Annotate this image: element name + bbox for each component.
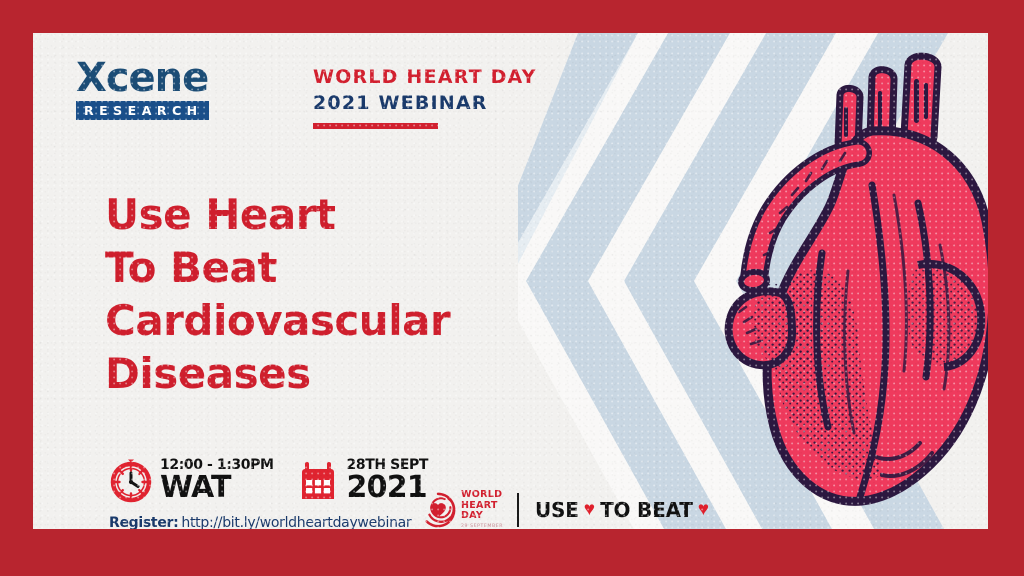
- event-time-block: 12:00 - 1:30PM WAT: [109, 458, 274, 503]
- whd-word-world: WORLD: [461, 490, 503, 501]
- event-date-year: 2021: [347, 473, 428, 503]
- anatomical-heart-illustration: [722, 35, 988, 529]
- lockup-divider: [517, 493, 519, 527]
- headline-line-2: To Beat: [105, 241, 450, 294]
- headline-line-1: Use Heart: [105, 188, 450, 241]
- headline: Use Heart To Beat Cardiovascular Disease…: [105, 188, 450, 400]
- campaign-tagline: USE ♥ TO BEAT ♥: [535, 500, 714, 520]
- heart-glyph-icon: ♥: [584, 500, 595, 519]
- whd-word-day: DAY: [461, 511, 503, 522]
- event-details: 12:00 - 1:30PM WAT: [109, 458, 428, 503]
- event-timezone: WAT: [160, 473, 274, 503]
- event-date-block: 28TH SEPT 2021: [296, 458, 428, 503]
- register-line: Register:http://bit.ly/worldheartdaywebi…: [109, 514, 411, 529]
- calendar-icon: [296, 459, 340, 503]
- eyebrow-underline-rule: [313, 123, 438, 129]
- poster-white-card: Xcene RESEARCH WORLD HEART DAY 2021 WEBI…: [33, 33, 988, 529]
- eyebrow-world-heart-day: WORLD HEART DAY: [313, 65, 537, 89]
- tagline-to-beat: TO BEAT: [600, 500, 693, 520]
- xcene-research-bar: RESEARCH: [76, 101, 209, 120]
- headline-line-3: Cardiovascular: [105, 294, 450, 347]
- clock-icon: [109, 459, 153, 503]
- heart-circle-emblem-icon: [419, 491, 457, 529]
- world-heart-day-poster: Xcene RESEARCH WORLD HEART DAY 2021 WEBI…: [0, 0, 1024, 576]
- world-heart-day-wordmark: WORLD HEART DAY 29 SEPTEMBER: [461, 490, 503, 529]
- event-date-text: 28TH SEPT 2021: [347, 458, 428, 503]
- register-url[interactable]: http://bit.ly/worldheartdaywebinar: [181, 515, 411, 529]
- whd-subtitle: 29 SEPTEMBER: [461, 523, 503, 530]
- world-heart-day-lockup: WORLD HEART DAY 29 SEPTEMBER USE ♥ TO BE…: [419, 490, 714, 529]
- heart-glyph-icon-2: ♥: [698, 500, 709, 519]
- headline-line-4: Diseases: [105, 347, 450, 400]
- xcene-research-logo: Xcene RESEARCH: [76, 58, 209, 120]
- event-time-text: 12:00 - 1:30PM WAT: [160, 458, 274, 503]
- event-eyebrow: WORLD HEART DAY 2021 WEBINAR: [313, 65, 537, 129]
- register-label: Register:: [109, 515, 178, 529]
- eyebrow-webinar-year: 2021 WEBINAR: [313, 91, 537, 115]
- tagline-use: USE: [535, 500, 579, 520]
- xcene-wordmark: Xcene: [76, 58, 209, 98]
